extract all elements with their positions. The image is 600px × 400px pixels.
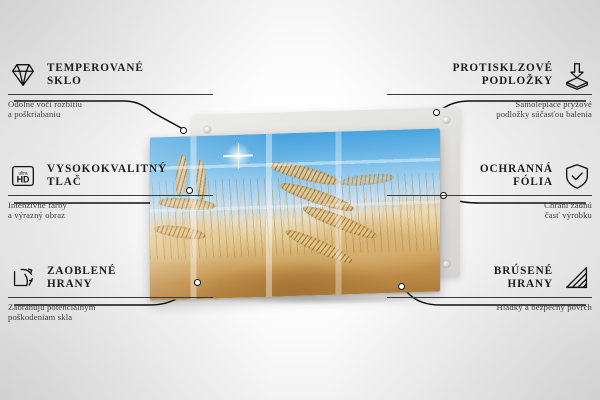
divider [8,94,213,95]
feature-header: ZAOBLENÉ HRANY [8,263,213,293]
feature-vysokokvalitna-tlac: ultra HD VYSOKOKVALITNÝ TLAČ Intenzívne … [8,161,213,220]
feature-title: PROTISKLZOVÉ PODLOŽKY [453,62,553,89]
anti-slip-pad-icon [562,60,592,90]
divider [387,297,592,298]
feature-title: VYSOKOKVALITNÝ TLAČ [47,163,167,190]
feature-subtitle: Zabraňujú potenciálnym poškodeniam skla [8,302,213,323]
feature-header: BRÚSENÉ HRANY [387,263,592,293]
feature-title: OCHRANNÁ FÓLIA [480,163,553,190]
sun-flare-icon [225,143,251,170]
feature-title: TEMPEROVANÉ SKLO [47,62,144,89]
feature-subtitle: Hladký a bezpečný povrch [387,302,592,312]
divider [387,195,592,196]
feature-protisklzove-podlozky: PROTISKLZOVÉ PODLOŽKY Samolepiace pryžov… [387,60,592,119]
feature-subtitle: Intenzívne farby a výrazný obraz [8,200,213,221]
product-infographic: TEMPEROVANÉ SKLO Odolné voči rozbitiu a … [0,0,600,400]
divider [8,297,213,298]
feature-temperovane-sklo: TEMPEROVANÉ SKLO Odolné voči rozbitiu a … [8,60,213,119]
polished-edge-icon [562,263,592,293]
feature-header: ultra HD VYSOKOKVALITNÝ TLAČ [8,161,213,191]
feature-title: BRÚSENÉ HRANY [494,265,553,292]
feature-header: TEMPEROVANÉ SKLO [8,60,213,90]
feature-title: ZAOBLENÉ HRANY [47,265,116,292]
mount-screw [204,126,211,133]
rounded-corner-icon [8,263,38,293]
feature-ochranna-folia: OCHRANNÁ FÓLIA Chráni zadnú časť výrobku [387,161,592,220]
callout-node [180,127,187,134]
svg-text:HD: HD [17,175,30,185]
divider [8,195,213,196]
feature-header: PROTISKLZOVÉ PODLOŽKY [387,60,592,90]
feature-header: OCHRANNÁ FÓLIA [387,161,592,191]
feature-zaoblene-hrany: ZAOBLENÉ HRANY Zabraňujú potenciálnym po… [8,263,213,322]
ultra-hd-icon: ultra HD [8,161,38,191]
feature-subtitle: Odolné voči rozbitiu a poškriabaniu [8,99,213,120]
diamond-icon [8,60,38,90]
divider [387,94,592,95]
feature-subtitle: Chráni zadnú časť výrobku [387,200,592,221]
feature-brusene-hrany: BRÚSENÉ HRANY Hladký a bezpečný povrch [387,263,592,312]
feature-subtitle: Samolepiace pryžové podložky súčasťou ba… [387,99,592,120]
shield-check-icon [562,161,592,191]
